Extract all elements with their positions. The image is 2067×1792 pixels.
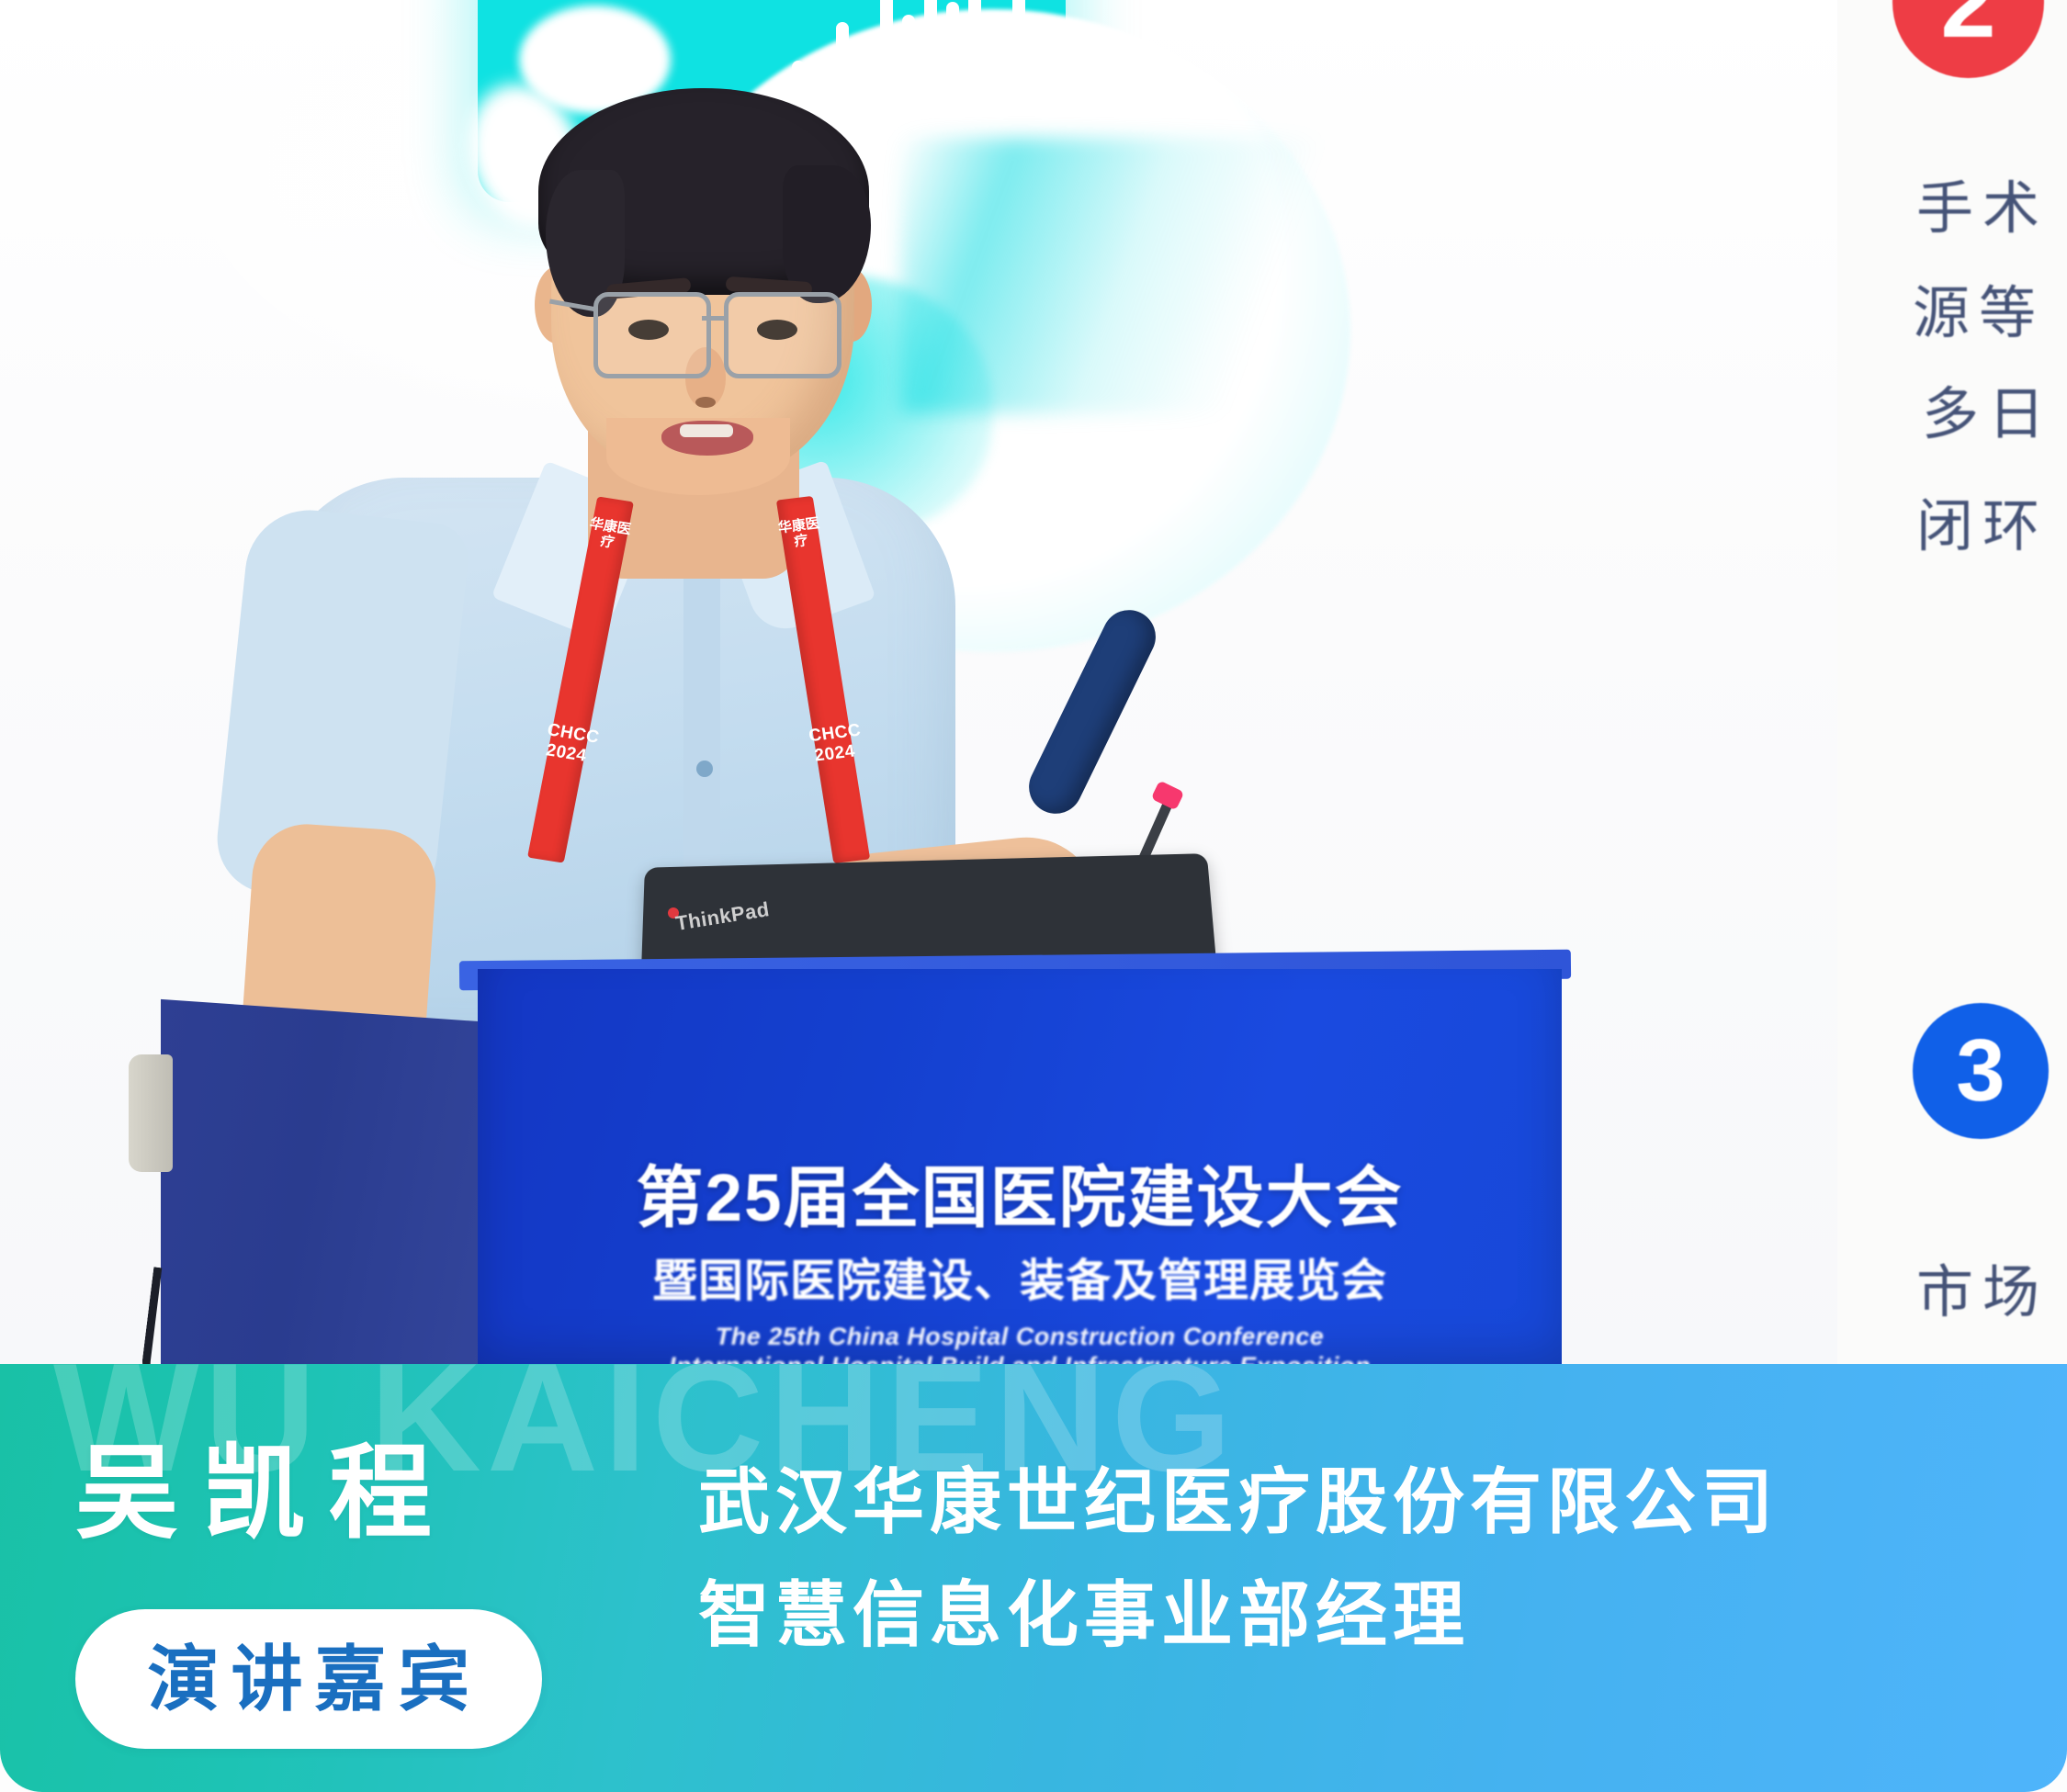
speaker-card-screenshot: 2 手术 源等 多日 闭环 3 市场	[0, 0, 2067, 1792]
speaker-company: 武汉华康世纪医疗股份有限公司	[698, 1451, 1779, 1553]
speaker-affiliation: 武汉华康世纪医疗股份有限公司 智慧信息化事业部经理	[698, 1451, 1779, 1677]
microphone-ring	[1151, 781, 1185, 811]
podium-title-en-primary: The 25th China Hospital Construction Con…	[478, 1323, 1562, 1351]
podium-clip-icon	[129, 1054, 173, 1172]
slide-cyan-band	[900, 138, 1332, 413]
lanyard-event-year-right: 2024	[810, 742, 859, 766]
slide-text-line-2: 源等	[1913, 266, 2045, 349]
slide-text-line-3: 多日	[1922, 367, 2054, 450]
eyeglasses-lens-right	[724, 292, 841, 378]
shirt-button-icon	[696, 761, 713, 777]
podium-side-panel	[161, 999, 480, 1378]
lanyard-sponsor-logo-right: 华康医疗	[776, 515, 823, 552]
speaker-title: 智慧信息化事业部经理	[698, 1564, 1779, 1666]
podium-title-cn-secondary: 暨国际医院建设、装备及管理展览会	[478, 1245, 1562, 1310]
eyeglasses-bridge	[702, 316, 724, 321]
speaker-teeth	[680, 424, 733, 437]
slide-text-line-4: 闭环	[1916, 479, 2049, 562]
speaker-name: 吴凯程	[75, 1438, 456, 1550]
speaker-role-label: 演讲嘉宾	[135, 1643, 481, 1715]
slide-text-line-1: 手术	[1916, 162, 2049, 244]
eyeglasses-lens-left	[593, 292, 711, 378]
podium-front-panel: 第25届全国医院建设大会 暨国际医院建设、装备及管理展览会 The 25th C…	[478, 969, 1562, 1378]
podium-banner-text: 第25届全国医院建设大会 暨国际医院建设、装备及管理展览会 The 25th C…	[478, 969, 1562, 1378]
slide-badge-3: 3	[1913, 1003, 2049, 1139]
speaker-role-badge: 演讲嘉宾	[75, 1609, 542, 1749]
slide-text-line-5: 市场	[1916, 1245, 2049, 1328]
conference-photo: 2 手术 源等 多日 闭环 3 市场	[0, 0, 2067, 1378]
lanyard-sponsor-logo-left: 华康医疗	[585, 516, 633, 554]
speaker-nostril	[695, 397, 716, 408]
podium-title-cn-primary: 第25届全国医院建设大会	[478, 1144, 1562, 1241]
